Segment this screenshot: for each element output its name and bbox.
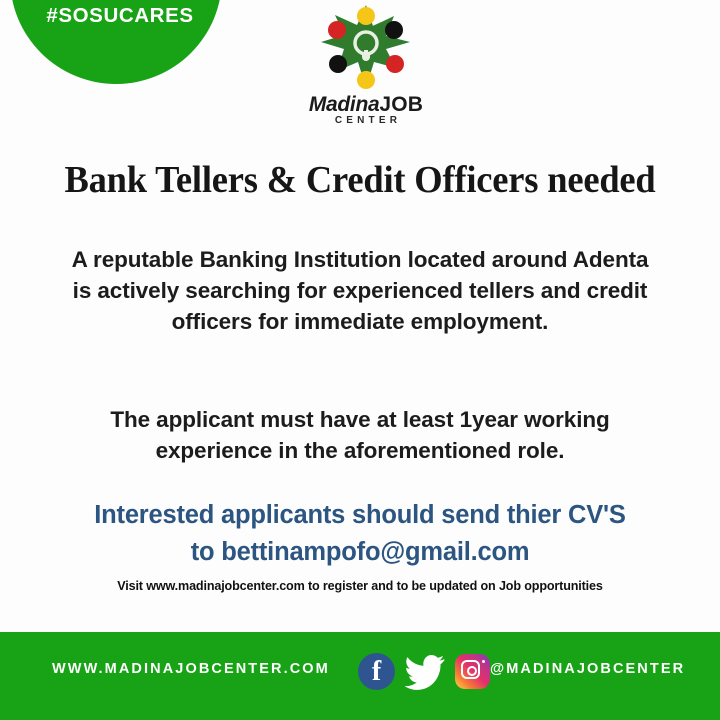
sosucares-hashtag: #SOSUCARES bbox=[0, 4, 240, 28]
visit-website-note: Visit www.madinajobcenter.com to registe… bbox=[20, 579, 700, 593]
application-instructions: Interested applicants should send thier … bbox=[40, 497, 680, 571]
logo-wordmark: MadinaJOB bbox=[292, 94, 440, 115]
footer-social-handle[interactable]: @MADINAJOBCENTER bbox=[490, 661, 685, 677]
job-advert-poster: #SOSUCARES MadinaJOB CENTER Bank Tellers bbox=[0, 0, 720, 720]
madina-job-center-logo: MadinaJOB CENTER bbox=[292, 2, 440, 134]
facebook-icon[interactable] bbox=[358, 653, 395, 690]
instagram-lens bbox=[467, 666, 477, 676]
logo-subtitle-center: CENTER bbox=[292, 115, 440, 126]
job-requirements-paragraph: The applicant must have at least 1year w… bbox=[60, 404, 660, 466]
twitter-icon[interactable] bbox=[405, 654, 445, 690]
instagram-dot bbox=[482, 660, 485, 663]
logo-word-madina: Madina bbox=[309, 93, 380, 116]
application-instructions-line-1: Interested applicants should send thier … bbox=[40, 497, 680, 534]
instagram-icon[interactable] bbox=[455, 654, 490, 689]
application-email-line[interactable]: to bettinampofo@gmail.com bbox=[40, 534, 680, 571]
logo-starburst-people-icon bbox=[318, 2, 414, 94]
footer-website-link[interactable]: WWW.MADINAJOBCENTER.COM bbox=[52, 661, 330, 677]
job-description-paragraph: A reputable Banking Institution located … bbox=[60, 244, 660, 337]
logo-word-job: JOB bbox=[379, 93, 423, 116]
page-title: Bank Tellers & Credit Officers needed bbox=[14, 158, 705, 202]
social-icons-group bbox=[358, 653, 490, 690]
footer-bar: WWW.MADINAJOBCENTER.COM @MADINAJOBCENTER bbox=[0, 632, 720, 720]
